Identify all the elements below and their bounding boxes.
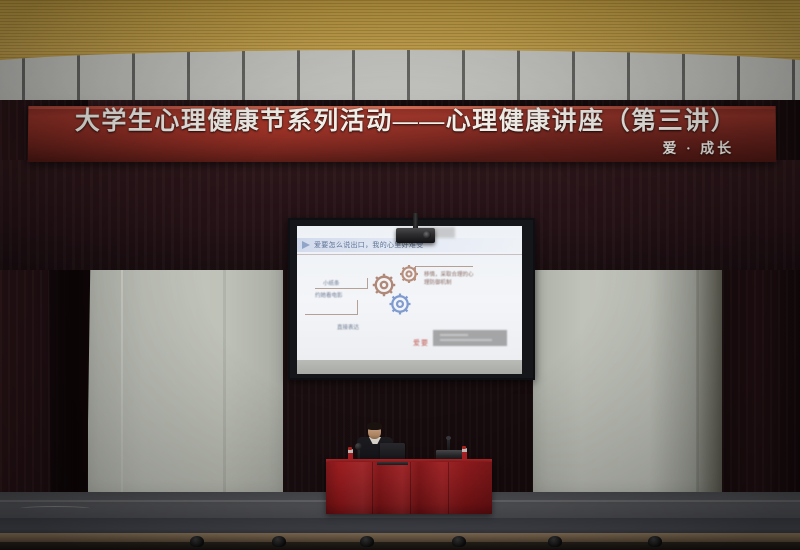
footlight-3 <box>360 536 374 547</box>
auditorium-scene: 大学生心理健康节系列活动——心理健康讲座（第三讲） 爱 · 成长 爱要怎么说出口… <box>0 0 800 550</box>
projector-lens-icon <box>423 231 431 239</box>
gear-blue-icon <box>386 290 414 318</box>
table-red-cloth <box>326 462 492 514</box>
connector-left-lower-vert <box>357 300 358 315</box>
table-cloth-fold-3 <box>448 462 449 514</box>
footlight-5 <box>548 536 562 547</box>
slide-label-left-top: 小纸条 <box>323 280 340 288</box>
slide-watermark: 爱要 <box>413 338 429 348</box>
connector-left-upper-vert <box>367 278 368 289</box>
slide-horizontal-rule <box>297 254 522 255</box>
footlight-1 <box>190 536 204 547</box>
connector-left-lower <box>305 314 357 315</box>
event-banner: 大学生心理健康节系列活动——心理健康讲座（第三讲） 爱 · 成长 <box>28 106 777 162</box>
presenter-hair <box>367 422 382 430</box>
gray-box-line-1 <box>440 334 468 336</box>
water-bottle-left-cap <box>348 447 352 450</box>
slide-gray-overlay-box <box>433 330 507 346</box>
footlight-4 <box>452 536 466 547</box>
table-cloth-fold-1 <box>372 462 373 514</box>
laptop-keyboard-base <box>377 462 408 465</box>
connector-left-upper <box>315 288 367 289</box>
floor-cable <box>20 506 90 511</box>
connector-right-upper <box>415 266 473 267</box>
footlight-6 <box>648 536 662 547</box>
gear-small-tan-icon <box>397 262 421 286</box>
water-bottle-right-cap <box>462 446 466 449</box>
presentation-slide: 爱要怎么说出口，我的心里好难受 <box>297 226 522 360</box>
stage-edge-shadow <box>0 542 800 550</box>
banner-main-title: 大学生心理健康节系列活动——心理健康讲座（第三讲） <box>50 107 762 137</box>
slide-letterbox-bar <box>297 360 522 374</box>
footlight-2 <box>272 536 286 547</box>
ceiling-projector <box>396 228 435 243</box>
gray-box-line-2 <box>440 339 492 341</box>
table-cloth-fold-2 <box>410 462 411 514</box>
triangle-arrow-icon <box>302 241 310 249</box>
banner-subtitle: 爱 · 成长 <box>662 138 734 158</box>
slide-label-right-block: 移情，采取合理的心理防御机制 <box>424 271 476 287</box>
slide-label-left-mid: 约她看电影 <box>315 292 343 300</box>
equipment-microphone-head-icon <box>446 436 451 440</box>
slide-label-left-bottom: 直接表达 <box>337 324 359 332</box>
microphone-head-icon <box>355 443 362 450</box>
